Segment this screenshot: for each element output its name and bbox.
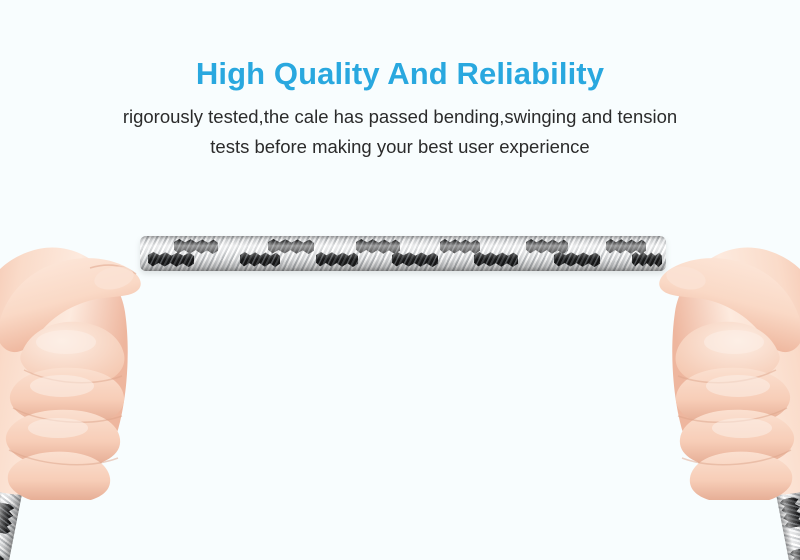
left-hand-grip (0, 200, 194, 500)
cable-chevron-patch (526, 239, 568, 254)
subtitle-line-2: tests before making your best user exper… (0, 132, 800, 162)
subtitle-block: rigorously tested,the cale has passed be… (0, 102, 800, 162)
braided-cable (140, 236, 666, 271)
cable-chevron-patch (554, 252, 600, 267)
cable-chevron-patch (440, 239, 480, 254)
cable-chevron-patch (474, 252, 518, 267)
page-title: High Quality And Reliability (0, 54, 800, 94)
cable-chevron-patch (268, 239, 314, 254)
cable-chevron-patch (356, 239, 400, 254)
product-feature-banner: High Quality And Reliability rigorously … (0, 0, 800, 560)
braid-texture (140, 236, 666, 271)
right-hand-grip (606, 200, 800, 500)
cable-chevron-patch (240, 252, 280, 267)
cable-chevron-patch (316, 252, 358, 267)
cable-chevron-patch (392, 252, 438, 267)
product-photo (0, 180, 800, 560)
subtitle-line-1: rigorously tested,the cale has passed be… (0, 102, 800, 132)
